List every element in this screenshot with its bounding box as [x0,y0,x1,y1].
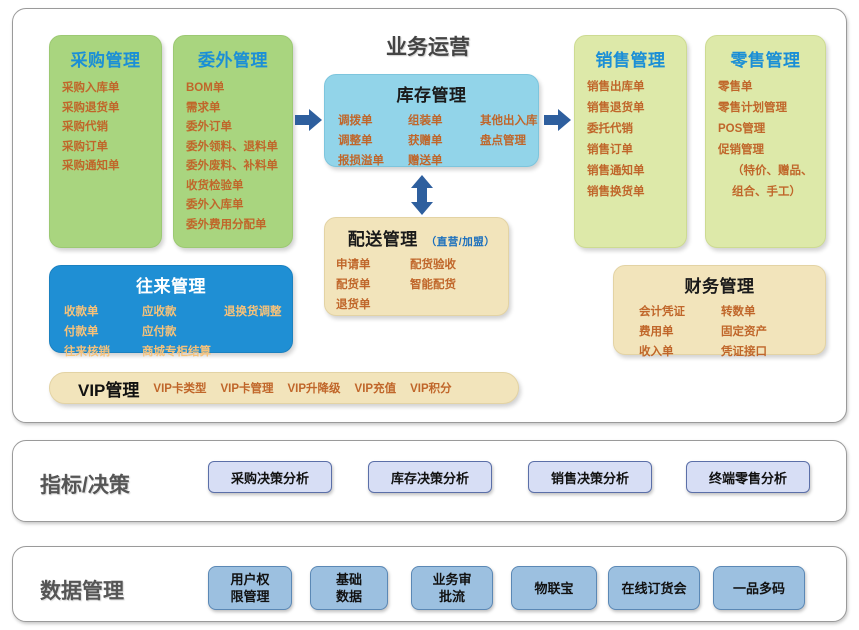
list-item[interactable]: 调拨单 [338,111,408,131]
arrow-up-down-icon [409,174,435,216]
list-item[interactable]: VIP积分 [410,380,452,396]
data-chip-basic-data[interactable]: 基础 数据 [310,566,388,610]
list-item[interactable]: 往来核销 [64,342,142,362]
chip-line-2: 限管理 [230,588,269,605]
card-retail-management[interactable]: 零售管理 零售单 零售计划管理 POS管理 促销管理 （特价、赠品、 组合、手工… [705,35,826,248]
card-sales-items: 销售出库单 销售退货单 委托代销 销售订单 销售通知单 销售换货单 [575,71,686,203]
card-purchase-items: 采购入库单 采购退货单 采购代销 采购订单 采购通知单 [50,71,161,177]
list-item[interactable]: 商城专柜结算 [142,342,224,362]
list-item[interactable]: BOM单 [186,79,292,99]
list-item[interactable]: 组装单 [408,111,480,131]
chip-line-1: 在线订货会 [621,580,686,597]
list-item[interactable]: VIP充值 [355,380,397,396]
chip-line-2: 数据 [336,588,362,605]
card-distribution-title: 配送管理 （直营/加盟） [325,218,508,250]
list-item[interactable]: 委外废料、补料单 [186,157,292,177]
list-item: （特价、赠品、 [718,161,825,182]
card-purchase-management[interactable]: 采购管理 采购入库单 采购退货单 采购代销 采购订单 采购通知单 [49,35,162,248]
list-item[interactable]: 委外费用分配单 [186,216,292,236]
data-chip-online-ordering[interactable]: 在线订货会 [608,566,700,610]
card-outsourcing-items: BOM单 需求单 委外订单 委外领料、退料单 委外废料、补料单 收货检验单 委外… [174,71,292,235]
list-item[interactable]: 应收款 [142,302,224,322]
card-inventory-title: 库存管理 [325,75,538,106]
data-chip-user-permission[interactable]: 用户权 限管理 [208,566,292,610]
kpi-chip-inventory[interactable]: 库存决策分析 [368,461,492,493]
data-management-section-label: 数据管理 [40,575,124,605]
list-item[interactable]: 采购入库单 [62,79,161,99]
card-distribution-subtitle: （直营/加盟） [426,234,495,249]
list-item[interactable]: VIP卡类型 [153,380,206,396]
list-item[interactable]: 零售单 [718,77,825,98]
card-inventory-items: 调拨单 组装单 其他出入库 调整单 获赠单 盘点管理 报损溢单 赠送单 [325,106,538,171]
list-item[interactable]: 应付款 [142,322,224,342]
list-item[interactable]: 收入单 [639,342,721,362]
list-item[interactable]: 固定资产 [721,322,825,342]
list-item-empty [224,322,292,342]
card-finance-title: 财务管理 [614,266,825,297]
chip-line-1: 基础 [336,571,362,588]
card-current-account-management[interactable]: 往来管理 收款单 应收款 退换货调整 付款单 应付款 往来核销 商城专柜结算 [49,265,293,353]
list-item[interactable]: 配货验收 [410,255,508,275]
list-item[interactable]: 调整单 [338,131,408,151]
list-item: 组合、手工） [718,182,825,203]
list-item[interactable]: 促销管理 [718,140,825,161]
list-item[interactable]: 收款单 [64,302,142,322]
data-chip-iot-treasure[interactable]: 物联宝 [511,566,597,610]
card-distribution-items: 申请单 配货验收 配货单 智能配货 退货单 [325,250,508,315]
card-vip-title: VIP管理 [78,376,139,401]
kpi-section-label: 指标/决策 [40,469,130,499]
card-finance-items: 会计凭证 转数单 费用单 固定资产 收入单 凭证接口 [614,297,825,362]
list-item[interactable]: 委外入库单 [186,196,292,216]
list-item[interactable]: 委外订单 [186,118,292,138]
list-item[interactable]: 零售计划管理 [718,98,825,119]
list-item[interactable]: 会计凭证 [639,302,721,322]
list-item[interactable]: 报损溢单 [338,151,408,171]
kpi-chip-purchase[interactable]: 采购决策分析 [208,461,332,493]
list-item[interactable]: 销售换货单 [587,182,686,203]
card-sales-title: 销售管理 [575,36,686,71]
list-item[interactable]: 其他出入库 [480,111,538,131]
card-current-account-items: 收款单 应收款 退换货调整 付款单 应付款 往来核销 商城专柜结算 [50,297,292,362]
list-item[interactable]: 销售通知单 [587,161,686,182]
card-distribution-management[interactable]: 配送管理 （直营/加盟） 申请单 配货验收 配货单 智能配货 退货单 [324,217,509,316]
list-item[interactable]: 盘点管理 [480,131,538,151]
list-item[interactable]: VIP卡管理 [220,380,273,396]
list-item[interactable]: 转数单 [721,302,825,322]
list-item[interactable]: 费用单 [639,322,721,342]
list-item[interactable]: 收货检验单 [186,177,292,197]
list-item[interactable]: 委外领料、退料单 [186,138,292,158]
chip-line-2: 批流 [439,588,465,605]
data-chip-business-approval-flow[interactable]: 业务审 批流 [411,566,493,610]
list-item[interactable]: 委托代销 [587,119,686,140]
list-item[interactable]: 销售出库单 [587,77,686,98]
list-item[interactable]: 销售订单 [587,140,686,161]
kpi-chip-terminal-retail[interactable]: 终端零售分析 [686,461,810,493]
card-distribution-title-text: 配送管理 [348,225,418,250]
list-item[interactable]: 退货单 [336,295,410,315]
list-item[interactable]: POS管理 [718,119,825,140]
data-chip-one-product-multi-code[interactable]: 一品多码 [713,566,805,610]
list-item[interactable]: 获赠单 [408,131,480,151]
card-vip-management[interactable]: VIP管理 VIP卡类型 VIP卡管理 VIP升降级 VIP充值 VIP积分 [49,372,519,404]
list-item[interactable]: 采购通知单 [62,157,161,177]
list-item[interactable]: 退换货调整 [224,302,292,322]
card-sales-management[interactable]: 销售管理 销售出库单 销售退货单 委托代销 销售订单 销售通知单 销售换货单 [574,35,687,248]
card-retail-title: 零售管理 [706,36,825,71]
kpi-chip-sales[interactable]: 销售决策分析 [528,461,652,493]
card-outsourcing-management[interactable]: 委外管理 BOM单 需求单 委外订单 委外领料、退料单 委外废料、补料单 收货检… [173,35,293,248]
list-item[interactable]: 凭证接口 [721,342,825,362]
card-purchase-title: 采购管理 [50,36,161,71]
list-item[interactable]: 赠送单 [408,151,480,171]
list-item[interactable]: 智能配货 [410,275,508,295]
list-item[interactable]: 销售退货单 [587,98,686,119]
arrow-right-icon [294,107,324,133]
chip-line-1: 用户权 [230,571,269,588]
list-item[interactable]: 采购代销 [62,118,161,138]
list-item[interactable]: 付款单 [64,322,142,342]
card-current-account-title: 往来管理 [50,266,292,297]
list-item[interactable]: 采购订单 [62,138,161,158]
chip-line-1: 物联宝 [534,580,573,597]
card-retail-items: 零售单 零售计划管理 POS管理 促销管理 （特价、赠品、 组合、手工） [706,71,825,203]
business-operations-heading: 业务运营 [313,31,543,61]
list-item[interactable]: 申请单 [336,255,410,275]
card-inventory-management[interactable]: 库存管理 调拨单 组装单 其他出入库 调整单 获赠单 盘点管理 报损溢单 赠送单 [324,74,539,167]
list-item[interactable]: 采购退货单 [62,99,161,119]
chip-line-1: 业务审 [432,571,471,588]
arrow-right-icon [543,107,573,133]
card-outsourcing-title: 委外管理 [174,36,292,71]
erp-architecture-diagram: 业务运营 采购管理 采购入库单 采购退货单 采购代销 采购订单 采购通知单 委外… [0,0,859,630]
business-operations-panel: 业务运营 采购管理 采购入库单 采购退货单 采购代销 采购订单 采购通知单 委外… [12,8,847,423]
card-finance-management[interactable]: 财务管理 会计凭证 转数单 费用单 固定资产 收入单 凭证接口 [613,265,826,355]
list-item[interactable]: 需求单 [186,99,292,119]
list-item[interactable]: VIP升降级 [288,380,341,396]
chip-line-1: 一品多码 [733,580,785,597]
list-item[interactable]: 配货单 [336,275,410,295]
